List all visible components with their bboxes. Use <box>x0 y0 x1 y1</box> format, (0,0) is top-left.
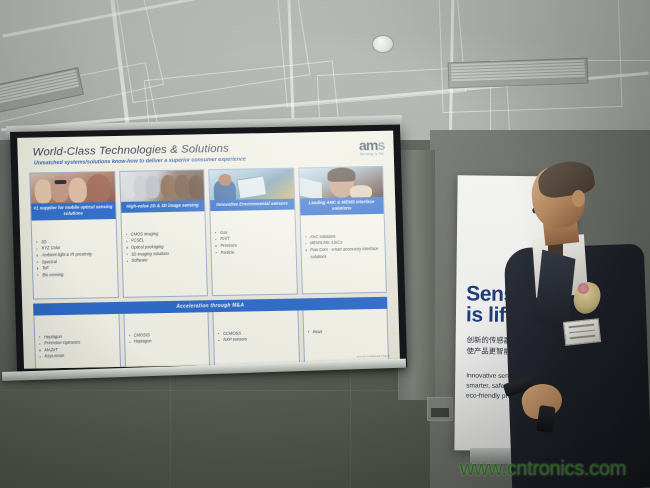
ams-logo: ams Sensing is life. <box>359 138 385 157</box>
solution-column: #1 supplier for mobile optical sensing s… <box>29 171 118 300</box>
wall-socket <box>427 397 453 421</box>
column-caption: High-value 2D & 3D image sensing <box>121 200 205 212</box>
presentation-photo-scene: ams Sensing is life. World-Class Technol… <box>0 0 650 488</box>
3d-face-scan-photo <box>120 170 204 202</box>
bullet-item: Particle <box>216 248 294 256</box>
column-bullets: 3D XYZ Color Ambient light & IR proximit… <box>32 235 117 283</box>
solution-column: Innovative Environmental sensors Gas RH/… <box>208 168 297 297</box>
column-caption: Leading ANC & MEMS interface solutions <box>300 197 384 215</box>
ear <box>572 190 585 207</box>
column-bullets: CMOS imaging VCSEL Optical packaging 3D … <box>121 227 206 281</box>
site-watermark: www.cntronics.com <box>460 458 626 481</box>
ma-bullet-item: Incus <box>307 327 385 335</box>
ma-column: Heptagon Princeton Optronics MAZeT KeyLe… <box>33 314 120 369</box>
presenter-person <box>486 162 650 488</box>
presentation-slide: ams Sensing is life. World-Class Technol… <box>17 131 400 369</box>
ma-bullet-item: Heptagon <box>129 337 207 345</box>
bullet-item: Software <box>126 257 204 265</box>
ams-logo-tagline: Sensing is life. <box>359 153 385 157</box>
column-bullets: ANC solutions MEMS Mic ASICs Pow:Com - s… <box>301 229 386 277</box>
bullet-item: Pow:Com - smart accessory interface solu… <box>305 246 383 261</box>
tablet-outdoors-photo <box>209 169 293 201</box>
ma-columns: Heptagon Princeton Optronics MAZeT KeyLe… <box>33 308 389 368</box>
projection-screen: ams Sensing is life. World-Class Technol… <box>10 125 407 375</box>
column-caption: Innovative Environmental sensors <box>210 199 294 211</box>
ams-logo-mark: am <box>359 137 378 153</box>
woman-in-car-photo <box>299 167 383 199</box>
column-bullets: Gas RH/T Pressure Particle <box>211 225 296 279</box>
solution-column: High-value 2D & 3D image sensing CMOS im… <box>119 169 208 298</box>
solution-column: Leading ANC & MEMS interface solutions A… <box>298 166 387 295</box>
solution-columns: #1 supplier for mobile optical sensing s… <box>29 166 387 300</box>
ma-column: CCMOSS NXP sensors <box>212 310 299 369</box>
ma-bullet-item: NXP sensors <box>218 336 296 344</box>
name-badge <box>563 318 601 346</box>
ams-logo-accent: s <box>377 137 384 153</box>
ma-column: CMOSIS Heptagon <box>123 312 210 369</box>
column-caption: #1 supplier for mobile optical sensing s… <box>31 202 115 220</box>
ma-bullet-item: KeyLemon <box>40 352 118 360</box>
hair <box>536 158 597 200</box>
bullet-item: Bio sensing <box>37 271 115 279</box>
selfie-friends-photo <box>30 172 114 204</box>
